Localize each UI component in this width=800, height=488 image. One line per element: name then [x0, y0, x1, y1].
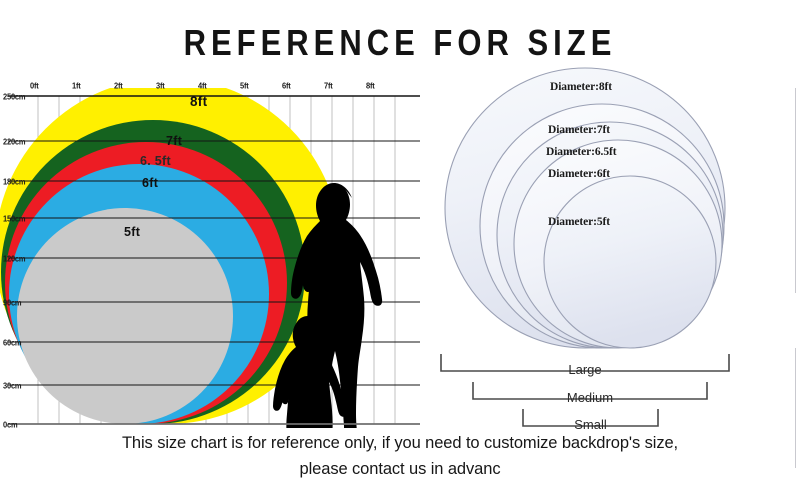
- caption: This size chart is for reference only, i…: [0, 430, 800, 482]
- y-tick-180cm: 180cm: [3, 176, 25, 186]
- x-tick-4ft: 4ft: [198, 80, 207, 90]
- ring-label-8ft: 8ft: [190, 94, 207, 109]
- bracket-label-large: Large: [430, 362, 740, 377]
- left-scale-chart: 250cm 220cm 180cm 150cm 120cm 90cm 60cm …: [0, 78, 430, 428]
- scale-chart-svg: [0, 78, 430, 428]
- bracket-label-medium: Medium: [473, 390, 707, 405]
- ring-label-65ft: 6. 5ft: [140, 154, 171, 168]
- diameter-label-5ft: Diameter:5ft: [548, 216, 610, 228]
- y-tick-0cm: 0cm: [3, 419, 17, 429]
- frame-edge-upper: [795, 88, 796, 293]
- ring-label-6ft: 6ft: [142, 176, 158, 190]
- x-tick-5ft: 5ft: [240, 80, 249, 90]
- caption-line-1: This size chart is for reference only, i…: [0, 430, 800, 456]
- caption-line-2: please contact us in advanc: [0, 456, 800, 482]
- x-tick-8ft: 8ft: [366, 80, 375, 90]
- x-tick-1ft: 1ft: [72, 80, 81, 90]
- diameter-label-65ft: Diameter:6.5ft: [546, 146, 616, 158]
- x-tick-3ft: 3ft: [156, 80, 165, 90]
- size-reference-chart: REFERENCE FOR SIZE: [0, 0, 800, 488]
- y-tick-60cm: 60cm: [3, 337, 21, 347]
- ring-label-7ft: 7ft: [166, 134, 182, 148]
- disc-5ft: [544, 176, 716, 348]
- y-tick-90cm: 90cm: [3, 297, 21, 307]
- x-tick-6ft: 6ft: [282, 80, 291, 90]
- y-tick-30cm: 30cm: [3, 380, 21, 390]
- y-tick-150cm: 150cm: [3, 213, 25, 223]
- x-tick-0ft: 0ft: [30, 80, 39, 90]
- ring-label-5ft: 5ft: [124, 225, 140, 239]
- page-title: REFERENCE FOR SIZE: [0, 22, 800, 64]
- diameter-label-6ft: Diameter:6ft: [548, 168, 610, 180]
- x-tick-2ft: 2ft: [114, 80, 123, 90]
- diameter-label-7ft: Diameter:7ft: [548, 124, 610, 136]
- y-tick-220cm: 220cm: [3, 136, 25, 146]
- y-tick-250cm: 250cm: [3, 91, 25, 101]
- y-tick-120cm: 120cm: [3, 253, 25, 263]
- ring-5ft: [17, 208, 233, 424]
- diameter-label-8ft: Diameter:8ft: [550, 81, 612, 93]
- diameter-panel: Diameter:8ft Diameter:7ft Diameter:6.5ft…: [430, 60, 800, 430]
- x-tick-7ft: 7ft: [324, 80, 333, 90]
